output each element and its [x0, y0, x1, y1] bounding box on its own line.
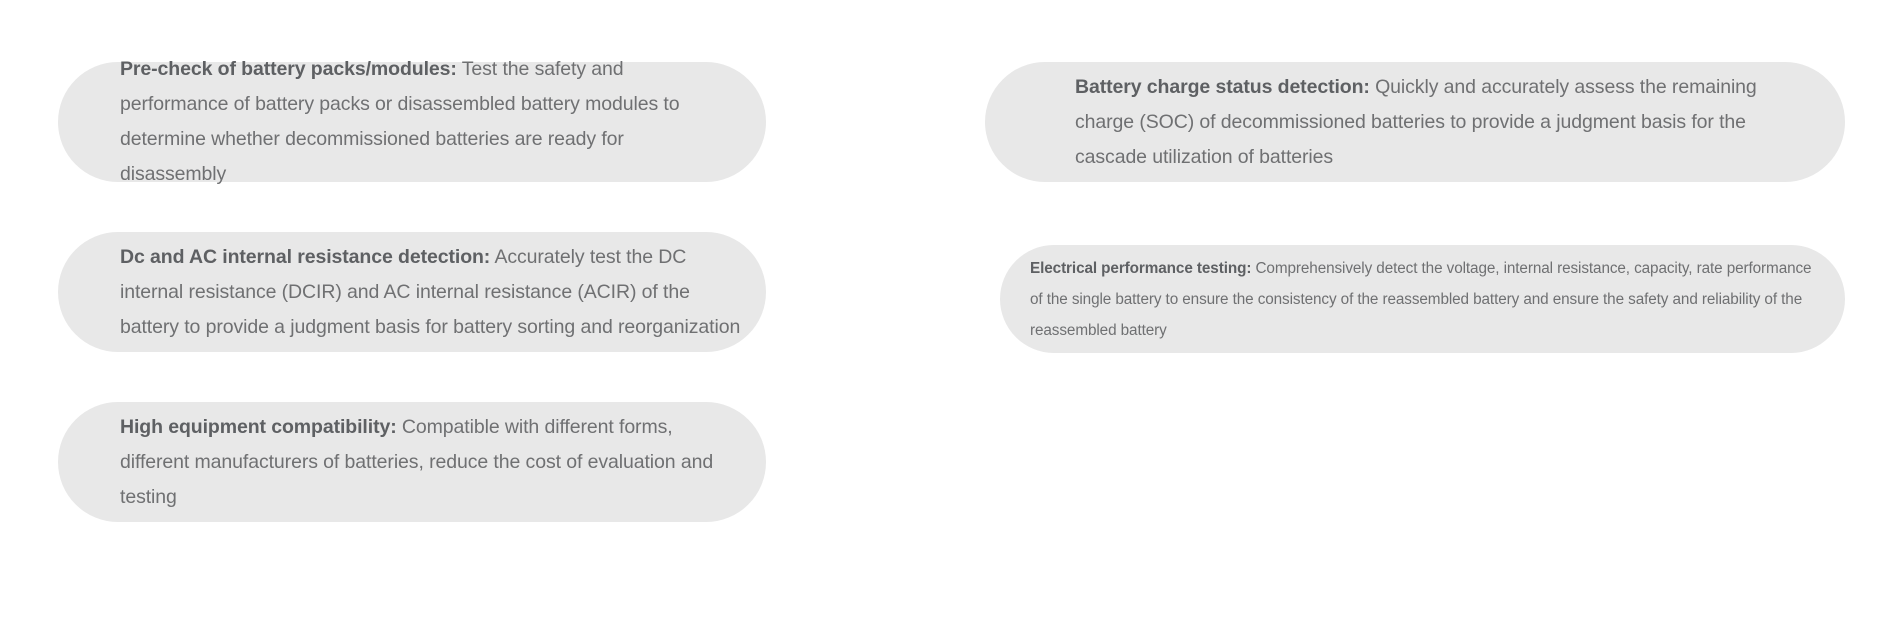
- feature-card-text: Battery charge status detection: Quickly…: [985, 70, 1845, 175]
- feature-card-title: Dc and AC internal resistance detection:: [120, 246, 490, 268]
- feature-card-text: Dc and AC internal resistance detection:…: [58, 240, 766, 345]
- feature-card-electrical-performance-testing: Electrical performance testing: Comprehe…: [1000, 245, 1845, 353]
- feature-card-dc-and-ac-internal-resistance-detection: Dc and AC internal resistance detection:…: [58, 232, 766, 352]
- feature-card-title: Battery charge status detection:: [1075, 76, 1370, 98]
- feature-card-title: High equipment compatibility:: [120, 416, 397, 438]
- feature-card-board: Pre-check of battery packs/modules: Test…: [0, 0, 1902, 629]
- feature-card-high-equipment-compatibility: High equipment compatibility: Compatible…: [58, 402, 766, 522]
- feature-card-title: Electrical performance testing:: [1030, 260, 1251, 277]
- feature-card-precheck-of-battery-packs-modules: Pre-check of battery packs/modules: Test…: [58, 62, 766, 182]
- feature-card-text: High equipment compatibility: Compatible…: [58, 410, 766, 515]
- feature-card-title: Pre-check of battery packs/modules:: [120, 58, 457, 80]
- feature-card-text: Electrical performance testing: Comprehe…: [1000, 253, 1845, 346]
- feature-card-text: Pre-check of battery packs/modules: Test…: [58, 52, 766, 192]
- feature-card-battery-charge-status-detection: Battery charge status detection: Quickly…: [985, 62, 1845, 182]
